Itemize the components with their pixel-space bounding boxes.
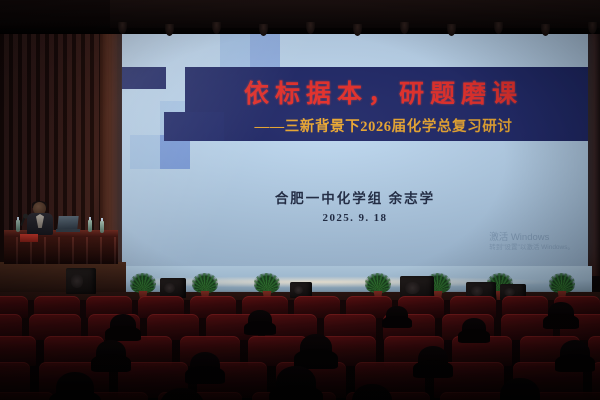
plant-leaves xyxy=(549,273,575,293)
audience-member-silhouette xyxy=(418,346,448,372)
laptop-base xyxy=(56,229,80,232)
presenter-figure xyxy=(27,202,53,234)
plant-leaves xyxy=(365,273,391,293)
audience-member-silhouette xyxy=(548,302,574,324)
audience-member-silhouette xyxy=(300,334,332,362)
auditorium-seat xyxy=(534,392,600,400)
slide-date: 2025. 9. 18 xyxy=(122,212,588,224)
presenter-table xyxy=(0,196,120,268)
laptop xyxy=(56,216,80,232)
audience-member-silhouette xyxy=(386,306,408,324)
stage-floor-monitor xyxy=(160,278,186,298)
projection-screen: 依标据本，研题磨课 ——三新背景下2026届化学总复习研讨 合肥一中化学组 余志… xyxy=(122,24,588,268)
slide-presenter: 合肥一中化学组 余志学 xyxy=(122,187,588,207)
mosaic-square xyxy=(220,33,250,67)
plant-leaves xyxy=(254,273,280,293)
microphone-icon xyxy=(20,216,26,226)
watermark-line-1: 激活 Windows xyxy=(489,232,574,244)
audience-member-silhouette xyxy=(56,372,94,400)
audience-member-silhouette xyxy=(248,310,272,330)
slide-title: 依标据本，研题磨课 xyxy=(185,72,582,112)
plant-leaves xyxy=(192,273,218,293)
water-bottle xyxy=(16,220,20,232)
name-plate xyxy=(20,234,38,242)
mosaic-square xyxy=(130,135,160,169)
presentation-slide: 依标据本，研题磨课 ——三新背景下2026届化学总复习研讨 合肥一中化学组 余志… xyxy=(122,24,588,268)
right-wall xyxy=(586,0,600,276)
audience-member-silhouette xyxy=(110,314,136,336)
audience-member-silhouette xyxy=(276,366,316,400)
auditorium-seat xyxy=(0,392,54,400)
water-bottle xyxy=(88,220,92,232)
mosaic-square xyxy=(250,33,280,67)
audience-member-silhouette xyxy=(560,340,590,366)
slide-subtitle: ——三新背景下2026届化学总复习研讨 xyxy=(185,113,582,138)
windows-activation-watermark: 激活 Windows 转到"设置"以激活 Windows。 xyxy=(489,232,574,252)
audience-member-silhouette xyxy=(462,318,486,338)
plant-leaves xyxy=(130,273,156,293)
water-bottle xyxy=(100,221,104,233)
stage-floor-monitor xyxy=(66,268,96,294)
laptop-screen xyxy=(57,216,78,229)
audience-member-silhouette xyxy=(190,352,220,378)
mosaic-square xyxy=(122,67,166,89)
auditorium-photo: 依标据本，研题磨课 ——三新背景下2026届化学总复习研讨 合肥一中化学组 余志… xyxy=(0,0,600,400)
watermark-line-2: 转到"设置"以激活 Windows。 xyxy=(489,244,574,252)
audience-member-silhouette xyxy=(96,340,126,366)
